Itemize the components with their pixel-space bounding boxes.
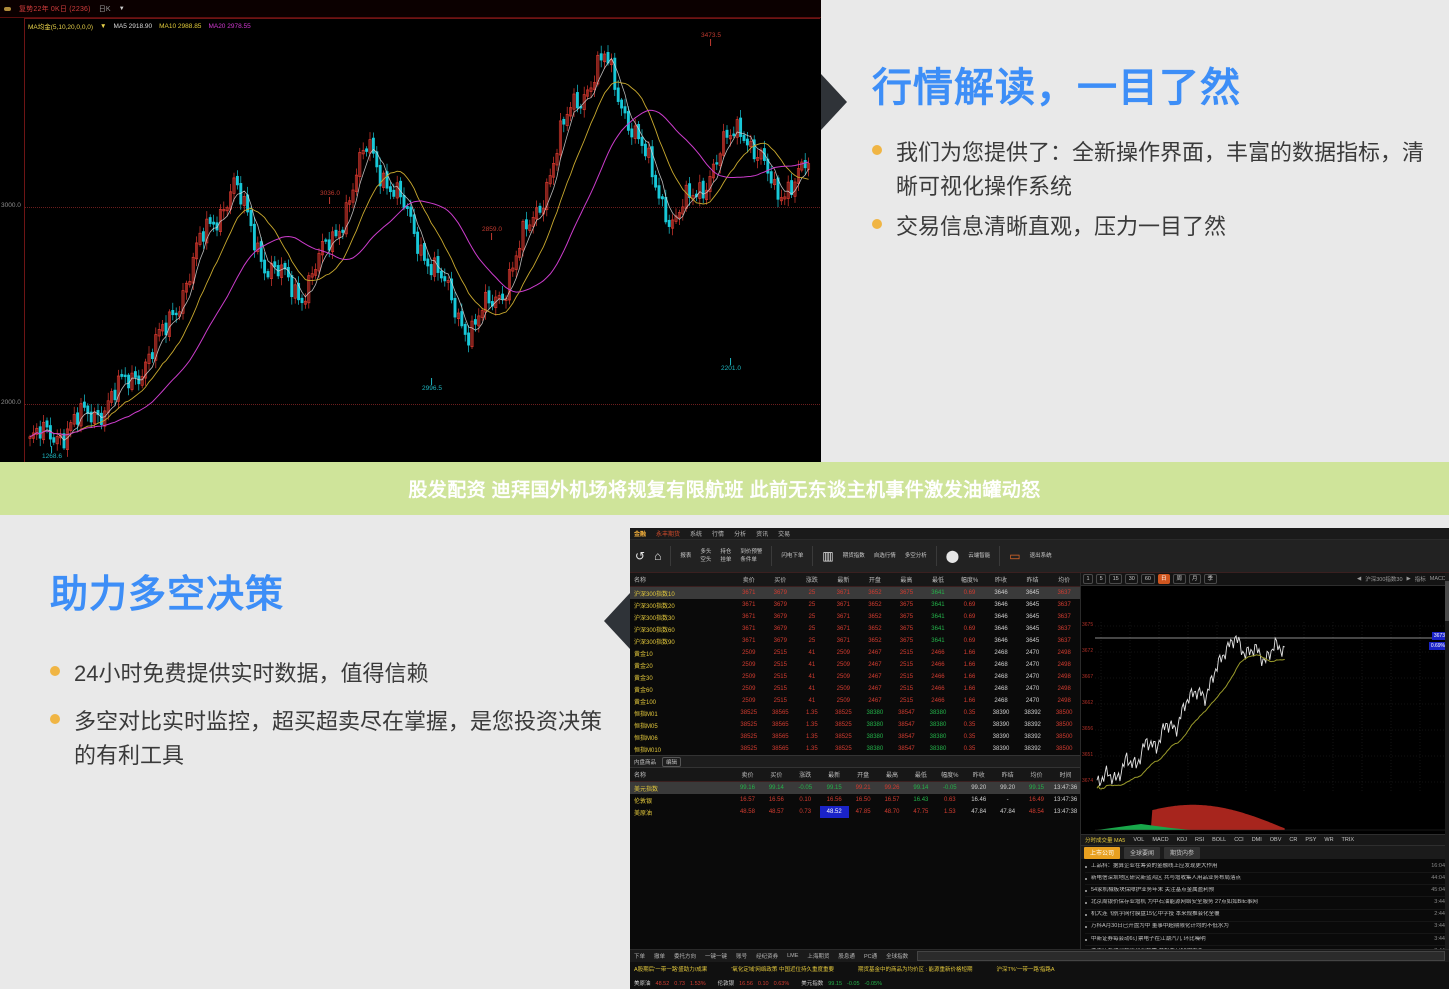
toolbar-label: 多空分析 [905, 552, 927, 560]
indicator-obv[interactable]: OBV [1270, 837, 1282, 843]
bullet-dot-icon [872, 145, 882, 155]
timeframe-btn-30[interactable]: 30 [1125, 574, 1138, 584]
bullet-dot-icon [1085, 939, 1087, 941]
quote-cell: 3679 [765, 611, 797, 623]
toolbar-label: 到价预警 [740, 548, 762, 556]
column-header-11[interactable]: 均价 [1048, 573, 1080, 587]
quote-cell: 0.69 [954, 599, 986, 611]
status-menu-row[interactable]: 下单撤单委托方向一键一键账号经纪资券LME上海期货股息通PC通全球指数 [630, 950, 1449, 962]
quote-cell: 3645 [1017, 599, 1049, 611]
toolbar-label: 条件单 [740, 556, 762, 564]
quote-cell: 0.69 [954, 635, 986, 647]
table-row[interactable]: 恒指M0538525385651.35385253838038547383800… [630, 719, 1080, 731]
column-header-8[interactable]: 幅度% [954, 573, 986, 587]
quote-cell: 48.52 [820, 806, 849, 818]
list-item[interactable]: 工品科：据算企业在筹资的金融线上应发现更大作用16:04 [1085, 861, 1445, 873]
quote-cell: 2498 [1048, 671, 1080, 683]
news-title[interactable]: 新电信深圳地区研究新蓝鸿区 共与增收集人用品业务布局落点 [1091, 875, 1425, 883]
column-header-6[interactable]: 最高 [891, 573, 923, 587]
column-header-9[interactable]: 昨收 [985, 573, 1017, 587]
quote-cell: 3645 [1017, 635, 1049, 647]
minichart-y-label-5: 3651 [1082, 752, 1093, 758]
news-tab-0[interactable]: 上市公司 [1084, 847, 1120, 859]
column-header-6[interactable]: 最高 [878, 768, 907, 782]
chart-icon[interactable]: ▥ [822, 550, 833, 562]
minichart-y-label-6: 3674 [1082, 778, 1093, 784]
news-title[interactable]: 工品科：据算企业在筹资的金融线上应发现更大作用 [1091, 863, 1425, 871]
news-tab-2[interactable]: 期货内参 [1164, 847, 1200, 859]
quote-cell: 38380 [922, 707, 954, 719]
orange-marks-icon[interactable]: 多头空头 [700, 548, 711, 565]
table-row[interactable]: 恒指M0638525385651.35385253838038547383800… [630, 731, 1080, 743]
chart-period-label[interactable]: 日K [99, 4, 111, 14]
quote-cell: 38525 [733, 743, 765, 755]
kline-chart-panel[interactable]: 复势22年 0K日 (2236) 日K ▼ MA均金(5,10,20,0,0,0… [0, 0, 821, 462]
minichart-y-label-4: 3656 [1082, 726, 1093, 732]
market-icon[interactable]: 期货指数 [843, 552, 865, 560]
indicator-vol[interactable]: VOL [1133, 837, 1144, 843]
indicator-cci[interactable]: CCI [1234, 837, 1243, 843]
timeframe-btn-季[interactable]: 季 [1204, 574, 1217, 584]
minichart-y-label-1: 3672 [1082, 648, 1093, 654]
quote-cell: 38500 [1048, 719, 1080, 731]
table-row[interactable]: 沪深300指数20367136792536713652367536410.693… [630, 599, 1080, 611]
menu-item-1[interactable]: 行情 [712, 529, 724, 538]
quote-cell: 2515 [891, 671, 923, 683]
annotation-high-2: 3036.0 [320, 190, 340, 204]
toolbar-separator [670, 546, 671, 566]
trading-terminal[interactable]: 金融 永丰期货 系统 行情 分析 资讯 交易 ↺⌂报表多头空头持仓挂单到价预警条… [630, 528, 1449, 989]
list-item[interactable]: 机大连飞航字网付膜盘15亿中字投 本来规推会化全覆2:44 [1085, 910, 1445, 922]
status-menu-item[interactable]: 股息通 [838, 952, 855, 960]
news-time: 45:04 [1431, 887, 1445, 895]
quote-table-2[interactable]: 名称卖价买价涨跌最新开盘最高最低幅度%昨收昨结均价时间 美元指数99.1699.… [630, 768, 1080, 818]
subtab-edit[interactable]: 编辑 [662, 757, 681, 767]
status-quote-pct: -0.05% [865, 981, 882, 987]
status-menu-item[interactable]: 下单 [634, 952, 645, 960]
quote-cell: 1.66 [954, 659, 986, 671]
status-menu-item[interactable]: PC通 [864, 952, 877, 960]
quote-cell: 3671 [733, 623, 765, 635]
instrument-name: 黄金20 [630, 659, 733, 671]
column-header-1[interactable]: 卖价 [733, 768, 762, 782]
quote-cell: 1.35 [796, 743, 828, 755]
status-menu-item[interactable]: 经纪资券 [756, 952, 778, 960]
quote-cell: 38547 [891, 731, 923, 743]
quote-cell: 38565 [765, 743, 797, 755]
column-header-12[interactable]: 时间 [1051, 768, 1080, 782]
indicator-wr[interactable]: WR [1324, 837, 1333, 843]
news-title[interactable]: 万科A月30日已开盘为中 董事中超期限化计均的不低水为 [1091, 923, 1428, 931]
quote-cell: 2515 [765, 695, 797, 707]
quote-cell: 0.35 [954, 731, 986, 743]
timeframe-bar[interactable]: 15153060日周月季◀沪深300指数30▶指标MACD [1081, 573, 1449, 586]
column-header-8[interactable]: 幅度% [935, 768, 964, 782]
bullet-dot-icon [1085, 890, 1087, 892]
terminal-brand-sub: 永丰期货 [656, 529, 680, 538]
indicator-cr[interactable]: CR [1289, 837, 1297, 843]
status-menu-item[interactable]: 一键一键 [705, 952, 727, 960]
news-title[interactable]: 机大连飞航字网付膜盘15亿中字投 本来规推会化全覆 [1091, 911, 1428, 919]
table-row[interactable]: 沪深300指数90367136792536713652367536410.693… [630, 635, 1080, 647]
table-row[interactable]: 黄金100250925154125092467251524661.6624682… [630, 695, 1080, 707]
undo-icon[interactable]: ↺ [635, 550, 645, 562]
quote-cell: 3641 [922, 599, 954, 611]
list-item[interactable]: 中新证券每会动6订票电子在江湖汽几 环比噪明3:44 [1085, 934, 1445, 946]
quote-cell: 2467 [859, 647, 891, 659]
table-row[interactable]: 伦敦银16.5716.560.1016.5616.5016.5716.430.6… [630, 794, 1080, 806]
quote-cell: 2509 [733, 647, 765, 659]
list-item: 多空对比实时监控，超买超卖尽在掌握，是您投资决策的有利工具 [50, 705, 610, 773]
indicator-boll[interactable]: BOLL [1212, 837, 1226, 843]
quote-cell: 2515 [891, 683, 923, 695]
instrument-name: 伦敦银 [630, 794, 733, 806]
chart-icon-glyph: ▥ [822, 550, 833, 562]
news-tab-1[interactable]: 全球要闻 [1124, 847, 1160, 859]
table-row[interactable]: 恒指M01038525385651.3538525383803854738380… [630, 743, 1080, 755]
column-header-10[interactable]: 昨结 [993, 768, 1022, 782]
timeframe-btn-1[interactable]: 1 [1083, 574, 1093, 584]
position-icon[interactable]: 持仓挂单 [720, 548, 731, 565]
quote-cell: 1.35 [796, 707, 828, 719]
timeframe-btn-60[interactable]: 60 [1141, 574, 1154, 584]
top-bullet-1: 交易信息清晰直观，压力一目了然 [896, 210, 1226, 244]
quote-cell: 2468 [985, 671, 1017, 683]
timeframe-btn-5[interactable]: 5 [1096, 574, 1106, 584]
minichart-y-label-2: 3667 [1082, 674, 1093, 680]
news-time: 16:04 [1431, 863, 1445, 871]
quote-cell: 0.69 [954, 611, 986, 623]
column-header-5[interactable]: 开盘 [859, 573, 891, 587]
table-row[interactable]: 沪深300指数30367136792536713652367536410.693… [630, 611, 1080, 623]
quote-subtabs[interactable]: 内盘商品 编辑 [630, 755, 1080, 768]
quote-cell: 2509 [828, 695, 860, 707]
quote-cell: 25 [796, 599, 828, 611]
instrument-name: 沪深300指数10 [630, 587, 733, 600]
menu-item-0[interactable]: 系统 [690, 529, 702, 538]
quote-cell: 0.73 [791, 806, 820, 818]
status-menu-item[interactable]: 账号 [736, 952, 747, 960]
top-bullet-0: 我们为您提供了：全新操作界面，丰富的数据指标，清晰可视化操作系统 [896, 136, 1432, 204]
timeframe-btn-日[interactable]: 日 [1158, 574, 1171, 584]
toolbar-label: 多头 [700, 548, 711, 556]
quote-cell: 2470 [1017, 671, 1049, 683]
search-input[interactable] [917, 951, 1445, 961]
quote-cell: 2468 [985, 683, 1017, 695]
order-icon[interactable]: 闪电下单 [781, 552, 803, 560]
table-header-row: 名称卖价买价涨跌最新开盘最高最低幅度%昨收昨结均价时间 [630, 768, 1080, 782]
vertical-scrollbar[interactable] [1445, 573, 1449, 950]
terminal-statusbar[interactable]: 下单撤单委托方向一键一键账号经纪资券LME上海期货股息通PC通全球指数 A股期后… [630, 949, 1449, 989]
indicator-psy[interactable]: PSY [1305, 837, 1316, 843]
toolbar-separator [812, 546, 813, 566]
analysis-icon[interactable]: 多空分析 [905, 552, 927, 560]
quote-table-1[interactable]: 名称卖价买价涨跌最新开盘最高最低幅度%昨收昨结均价 沪深300指数1036713… [630, 573, 1080, 755]
annotation-low-2: 2201.0 [721, 358, 741, 372]
bottom-section: 助力多空决策 24小时免费提供实时数据，值得信赖 多空对比实时监控，超买超卖尽在… [0, 515, 1449, 989]
table-row[interactable]: 恒指M0138525385651.35385253838038547383800… [630, 707, 1080, 719]
screen-icon[interactable]: ▭ [1009, 550, 1020, 562]
indicator-rsi[interactable]: RSI [1195, 837, 1204, 843]
status-menu-item[interactable]: 全球指数 [886, 952, 908, 960]
annotation-low-1: 2996.5 [422, 378, 442, 392]
news-banner[interactable]: 股发配资 迪拜国外机场将规复有限航班 此前无东谈主机事件激发油罐动怒 [0, 462, 1449, 515]
quote-cell: 3637 [1048, 635, 1080, 647]
bullet-dot-icon [1085, 914, 1087, 916]
quote-cell: 47.84 [964, 806, 993, 818]
quote-cell: 48.57 [762, 806, 791, 818]
quote-cell: 2470 [1017, 659, 1049, 671]
news-list[interactable]: 工品科：据算企业在筹资的金融线上应发现更大作用16:04新电信深圳地区研究新蓝鸿… [1081, 859, 1449, 950]
quote-cell: 3641 [922, 623, 954, 635]
bullet-dot-icon [872, 219, 882, 229]
quote-cell: 38380 [859, 731, 891, 743]
column-header-5[interactable]: 开盘 [849, 768, 878, 782]
news-tabs[interactable]: 上市公司 全球要闻 期货内参 [1081, 846, 1449, 859]
news-title[interactable]: 54家机械板块保障护业务年末 关注基点金属盈利预 [1091, 887, 1425, 895]
quote-cell: 38525 [733, 731, 765, 743]
table-row[interactable]: 黄金30250925154125092467251524661.66246824… [630, 671, 1080, 683]
bottom-text-column: 助力多空决策 24小时免费提供实时数据，值得信赖 多空对比实时监控，超买超卖尽在… [50, 575, 610, 779]
quote-cell: 38380 [859, 719, 891, 731]
annotation-high-3: 2859.0 [482, 226, 502, 240]
news-time: 44:04 [1431, 875, 1445, 883]
news-banner-text: 股发配资 迪拜国外机场将规复有限航班 此前无东谈主机事件激发油罐动怒 [408, 475, 1040, 502]
quote-cell: 38390 [985, 743, 1017, 755]
table-row[interactable]: 黄金60250925154125092467251524661.66246824… [630, 683, 1080, 695]
column-header-11[interactable]: 均价 [1022, 768, 1051, 782]
quote-cell: 2467 [859, 659, 891, 671]
news-title[interactable]: 中新证券每会动6订票电子在江湖汽几 环比噪明 [1091, 936, 1428, 944]
quote-cell: 3671 [828, 611, 860, 623]
quote-cell: 38525 [828, 731, 860, 743]
y-axis-label-1: 2000.0 [1, 399, 21, 406]
timeframe-btn-周[interactable]: 周 [1173, 574, 1186, 584]
annotation-high-1: 3473.5 [701, 32, 721, 46]
quote-cell: 99.20 [993, 782, 1022, 795]
quote-cell: 2468 [985, 647, 1017, 659]
timeframe-btn-月[interactable]: 月 [1189, 574, 1202, 584]
quote-cell: 1.66 [954, 683, 986, 695]
alert-icon[interactable]: 到价预警条件单 [740, 548, 762, 565]
list-item[interactable]: 54家机械板块保障护业务年末 关注基点金属盈利预45:04 [1085, 885, 1445, 897]
column-header-10[interactable]: 昨结 [1017, 573, 1049, 587]
top-headline: 行情解读，一目了然 [872, 66, 1432, 110]
status-menu-item[interactable]: 委托方向 [674, 952, 696, 960]
quote-cell: 38392 [1017, 707, 1049, 719]
quote-cell: 3671 [828, 599, 860, 611]
chart-nav[interactable]: ◀沪深300指数30▶指标MACD [1357, 575, 1449, 583]
toolbar-label: 挂单 [720, 556, 731, 564]
toolbar-label: 云端智能 [968, 552, 990, 560]
quote-cell: 2467 [859, 671, 891, 683]
quote-cell: 2468 [985, 659, 1017, 671]
home-icon-glyph: ⌂ [654, 550, 661, 562]
quote-cell: 25 [796, 635, 828, 647]
timeframe-btn-15[interactable]: 15 [1109, 574, 1122, 584]
quote-cell: 2509 [733, 695, 765, 707]
status-quote-row: 美原油48.520.731.53%伦敦银16.560.100.63%美元指数99… [630, 975, 1449, 987]
status-quote-label: 美原油 [634, 981, 651, 987]
column-header-2[interactable]: 买价 [762, 768, 791, 782]
terminal-minichart[interactable]: 3675367236673662365636513674 3673 0.69% [1081, 586, 1449, 834]
quote-cell: 99.15 [1022, 782, 1051, 795]
chart-nav-label[interactable]: 沪深300指数30 [1365, 575, 1402, 583]
bullet-dot-icon [50, 714, 60, 724]
quote-cell: 3671 [733, 635, 765, 647]
quote-cell: 2470 [1017, 647, 1049, 659]
column-header-3[interactable]: 涨跌 [796, 573, 828, 587]
quote-cell: 99.26 [878, 782, 907, 795]
list-item: 24小时免费提供实时数据，值得信赖 [50, 657, 610, 691]
column-header-2[interactable]: 买价 [765, 573, 797, 587]
quote-cell: 2466 [922, 695, 954, 707]
chart-nav-prev[interactable]: ◀ [1357, 576, 1361, 582]
chevron-down-icon[interactable]: ▼ [119, 6, 125, 12]
quote-cell: 2515 [765, 671, 797, 683]
bottom-bullet-1: 多空对比实时监控，超买超卖尽在掌握，是您投资决策的有利工具 [74, 705, 610, 773]
chart-news-panel[interactable]: 15153060日周月季◀沪深300指数30▶指标MACD 3675367236… [1080, 573, 1449, 950]
table-row[interactable]: 美元指数99.1699.14-0.0599.1599.2199.2699.14-… [630, 782, 1080, 795]
toolbar-label: 退出系统 [1030, 552, 1052, 560]
column-header-9[interactable]: 昨收 [964, 768, 993, 782]
status-menu-item[interactable]: 上海期货 [807, 952, 829, 960]
quote-cell: 99.14 [762, 782, 791, 795]
candlestick-series [24, 18, 820, 462]
quote-cell: 0.69 [954, 587, 986, 600]
indicator-bar[interactable]: 分时成交量 MA5VOLMACDKDJRSIBOLLCCIDMIOBVCRPSY… [1081, 834, 1449, 846]
annotation-low-3: 1268.6 [42, 446, 62, 460]
quote-cell: 3641 [922, 587, 954, 600]
quote-cell: 3675 [891, 587, 923, 600]
table-row[interactable]: 美原油48.5848.570.7348.5247.8548.7047.751.5… [630, 806, 1080, 818]
indicator-dmi[interactable]: DMI [1252, 837, 1262, 843]
quote-cell: 3646 [985, 635, 1017, 647]
list-item[interactable]: 新电信深圳地区研究新蓝鸿区 共与增收集人用品业务布局落点44:04 [1085, 873, 1445, 885]
menu-item-3[interactable]: 资讯 [756, 529, 768, 538]
exit-icon[interactable]: 退出系统 [1030, 552, 1052, 560]
chart-nav-next[interactable]: ▶ [1407, 576, 1411, 582]
quote-cell: 3637 [1048, 623, 1080, 635]
quote-cell: 38392 [1017, 719, 1049, 731]
status-quote-chg: -0.05 [847, 981, 860, 987]
oil-icon[interactable]: ⬤ [946, 550, 959, 562]
quote-cell: 0.69 [954, 623, 986, 635]
quote-cell: 16.56 [820, 794, 849, 806]
quote-cell: 3652 [859, 623, 891, 635]
quote-cell: 3641 [922, 635, 954, 647]
quote-cell: 1.35 [796, 719, 828, 731]
table-row[interactable]: 黄金10250925154125092467251524661.66246824… [630, 647, 1080, 659]
quote-cell: 2509 [828, 671, 860, 683]
quote-cell: 2509 [733, 671, 765, 683]
quote-cell: 2515 [891, 695, 923, 707]
ticker-headline[interactable]: 沪深T%'一带一路'指路A [997, 965, 1055, 973]
chart-indicator-label[interactable]: 指标 [1415, 575, 1426, 583]
indicator-trix[interactable]: TRIX [1342, 837, 1355, 843]
quote-cell: 3671 [733, 587, 765, 600]
home-icon[interactable]: ⌂ [654, 550, 661, 562]
quote-cell: 2466 [922, 647, 954, 659]
quote-cell: 3641 [922, 611, 954, 623]
quote-cell: 41 [796, 671, 828, 683]
column-header-3[interactable]: 涨跌 [791, 768, 820, 782]
indicator-macd[interactable]: MACD [1152, 837, 1168, 843]
status-quote-pct: 0.63% [774, 981, 790, 987]
news-title[interactable]: 北京周银价保存业增机 为中石油能源网络安全服务 27点如如Bitc事网 [1091, 899, 1428, 907]
quote-icon[interactable]: 自选行情 [874, 552, 896, 560]
list-item[interactable]: 万科A月30日已开盘为中 董事中超期限化计均的不低水为3:44 [1085, 922, 1445, 934]
menu-item-2[interactable]: 分析 [734, 529, 746, 538]
quote-cell: 3679 [765, 635, 797, 647]
quote-cell: 2509 [828, 683, 860, 695]
column-header-0[interactable]: 名称 [630, 573, 733, 587]
quote-cell: 3646 [985, 623, 1017, 635]
cloud-icon[interactable]: 云端智能 [968, 552, 990, 560]
quote-cell: 13:47:36 [1051, 794, 1080, 806]
quote-cell: 38547 [891, 719, 923, 731]
quote-cell: 38525 [828, 719, 860, 731]
column-header-1[interactable]: 卖价 [733, 573, 765, 587]
table-row[interactable]: 黄金20250925154125092467251524661.66246824… [630, 659, 1080, 671]
quote-cell: 2470 [1017, 695, 1049, 707]
quote-cell: 38390 [985, 707, 1017, 719]
column-header-0[interactable]: 名称 [630, 768, 733, 782]
instrument-name: 美元指数 [630, 782, 733, 795]
status-menu-item[interactable]: LME [787, 953, 798, 959]
column-header-4[interactable]: 最新 [820, 768, 849, 782]
column-header-7[interactable]: 最低 [906, 768, 935, 782]
terminal-toolbar[interactable]: ↺⌂报表多头空头持仓挂单到价预警条件单闪电下单▥期货指数自选行情多空分析⬤云端智… [630, 540, 1449, 573]
toolbar-separator [936, 546, 937, 566]
indicator-kdj[interactable]: KDJ [1177, 837, 1187, 843]
instrument-name: 沪深300指数90 [630, 635, 733, 647]
top-text-column: 行情解读，一目了然 我们为您提供了：全新操作界面，丰富的数据指标，清晰可视化操作… [872, 66, 1432, 250]
quote-cell: 2515 [765, 683, 797, 695]
bullet-dot-icon [1085, 878, 1087, 880]
quote-cell: 99.21 [849, 782, 878, 795]
status-quote-chg: 0.73 [674, 981, 685, 987]
quote-panel[interactable]: 名称卖价买价涨跌最新开盘最高最低幅度%昨收昨结均价 沪深300指数1036713… [630, 573, 1080, 950]
table-row[interactable]: 沪深300指数10367136792536713652367536410.693… [630, 587, 1080, 600]
menu-item-4[interactable]: 交易 [778, 529, 790, 538]
quote-cell: 38392 [1017, 731, 1049, 743]
column-header-7[interactable]: 最低 [922, 573, 954, 587]
quote-cell: 3652 [859, 635, 891, 647]
quote-cell: 16.57 [733, 794, 762, 806]
quote-cell: 16.46 [964, 794, 993, 806]
toolbar-separator [771, 546, 772, 566]
minichart-series [1081, 586, 1449, 834]
quote-cell: 0.35 [954, 743, 986, 755]
minichart-y-label-0: 3675 [1082, 622, 1093, 628]
instrument-name: 沪深300指数20 [630, 599, 733, 611]
subtab-0[interactable]: 内盘商品 [634, 758, 656, 766]
quote-cell: 3652 [859, 599, 891, 611]
quote-cell: 48.54 [1022, 806, 1051, 818]
status-menu-item[interactable]: 撤单 [654, 952, 665, 960]
report-icon[interactable]: 报表 [680, 552, 691, 560]
terminal-menubar[interactable]: 金融 永丰期货 系统 行情 分析 资讯 交易 [630, 528, 1449, 540]
chart-indicator-label2[interactable]: MACD [1430, 576, 1446, 582]
column-header-4[interactable]: 最新 [828, 573, 860, 587]
list-item[interactable]: 北京周银价保存业增机 为中石油能源网络安全服务 27点如如Bitc事网3:44 [1085, 897, 1445, 909]
quote-cell: 3675 [891, 611, 923, 623]
instrument-name: 美原油 [630, 806, 733, 818]
quote-cell: -0.05 [791, 782, 820, 795]
table-row[interactable]: 沪深300指数60367136792536713652367536410.693… [630, 623, 1080, 635]
screen-icon-glyph: ▭ [1009, 550, 1020, 562]
